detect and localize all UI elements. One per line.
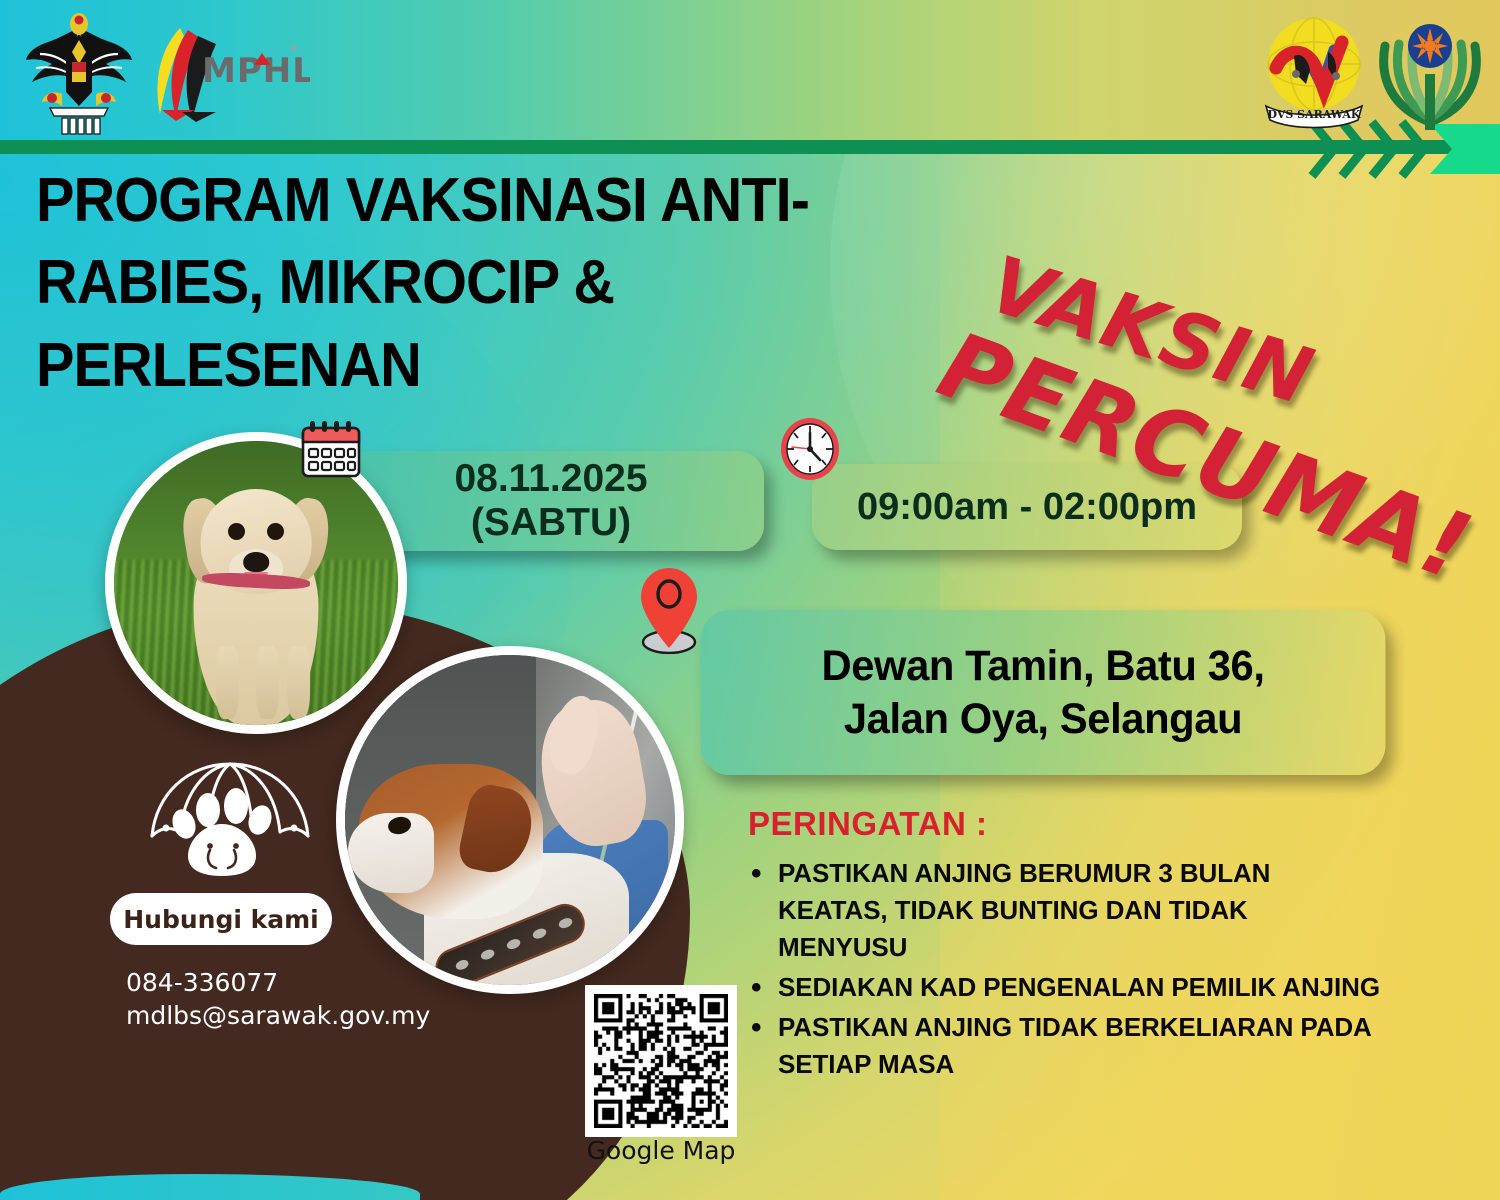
puppy-eye xyxy=(228,523,245,540)
puppy-leg xyxy=(216,646,239,720)
reminders-heading: PERINGATAN : xyxy=(748,805,987,843)
venue-line-1: Dewan Tamin, Batu 36, xyxy=(821,640,1264,692)
collar-stud xyxy=(557,916,573,930)
clock-icon xyxy=(779,417,841,481)
event-date-box: 08.11.2025 (SABTU) xyxy=(338,451,764,551)
title-line-2: RABIES, MIKROCIP & xyxy=(36,242,1003,324)
event-time-box: 09:00am - 02:00pm xyxy=(812,464,1242,550)
paw-umbrella-icon xyxy=(130,758,330,888)
calendar-icon xyxy=(300,420,362,480)
collar-stud xyxy=(505,937,521,951)
event-date-value: 08.11.2025 xyxy=(454,457,647,501)
collar-stud xyxy=(479,947,495,961)
title-line-3: PERLESENAN xyxy=(36,325,1003,407)
header-green-divider xyxy=(0,140,1500,154)
dvs-sarawak-logo-icon: DVS SARAWAK xyxy=(1250,12,1380,134)
title-line-1: PROGRAM VAKSINASI ANTI- xyxy=(36,160,1003,242)
event-time-value: 09:00am - 02:00pm xyxy=(857,486,1197,529)
reminder-item: SEDIAKAN KAD PENGENALAN PEMILIK ANJING xyxy=(742,969,1382,1006)
contact-email[interactable]: mdlbs@sarawak.gov.my xyxy=(126,999,430,1032)
event-date-day: (SABTU) xyxy=(454,501,647,545)
vaccination-photo xyxy=(336,646,684,994)
map-pin-icon xyxy=(633,566,705,654)
vaccination-photo-inner xyxy=(345,655,675,985)
google-map-qr-code[interactable] xyxy=(585,985,737,1137)
svg-text:MPHLG: MPHLG xyxy=(202,51,310,91)
event-venue-box: Dewan Tamin, Batu 36, Jalan Oya, Selanga… xyxy=(701,610,1386,775)
collar-stud xyxy=(454,958,470,972)
venue-line-2: Jalan Oya, Selangau xyxy=(821,693,1264,745)
poster-root: MAJLIS DAERAH LUAR BANDAR SIBU xyxy=(0,0,1500,1200)
sarawak-coat-of-arms-icon xyxy=(22,10,137,135)
reminders-list: PASTIKAN ANJING BERUMUR 3 BULAN KEATAS, … xyxy=(742,855,1382,1085)
qr-code-icon[interactable] xyxy=(594,994,728,1128)
puppy-nose xyxy=(243,552,269,572)
puppy-leg xyxy=(256,646,279,720)
mphlg-logo-icon: MPHLG ® xyxy=(140,22,310,122)
reminder-item: PASTIKAN ANJING TIDAK BERKELIARAN PADA S… xyxy=(742,1009,1382,1083)
puppy-leg xyxy=(287,646,310,720)
reminder-item: PASTIKAN ANJING BERUMUR 3 BULAN KEATAS, … xyxy=(742,855,1382,966)
contact-details: 084-336077 mdlbs@sarawak.gov.my xyxy=(126,966,430,1032)
collar-stud xyxy=(531,926,547,940)
svg-text:®: ® xyxy=(288,42,299,55)
agriculture-department-logo-icon xyxy=(1375,18,1485,136)
contact-us-button[interactable]: Hubungi kami xyxy=(110,893,332,945)
contact-phone[interactable]: 084-336077 xyxy=(126,966,430,999)
poster-main-title: PROGRAM VAKSINASI ANTI- RABIES, MIKROCIP… xyxy=(36,160,1003,407)
svg-text:DVS SARAWAK: DVS SARAWAK xyxy=(1267,108,1360,121)
qr-code-label: Google Map xyxy=(583,1136,739,1165)
